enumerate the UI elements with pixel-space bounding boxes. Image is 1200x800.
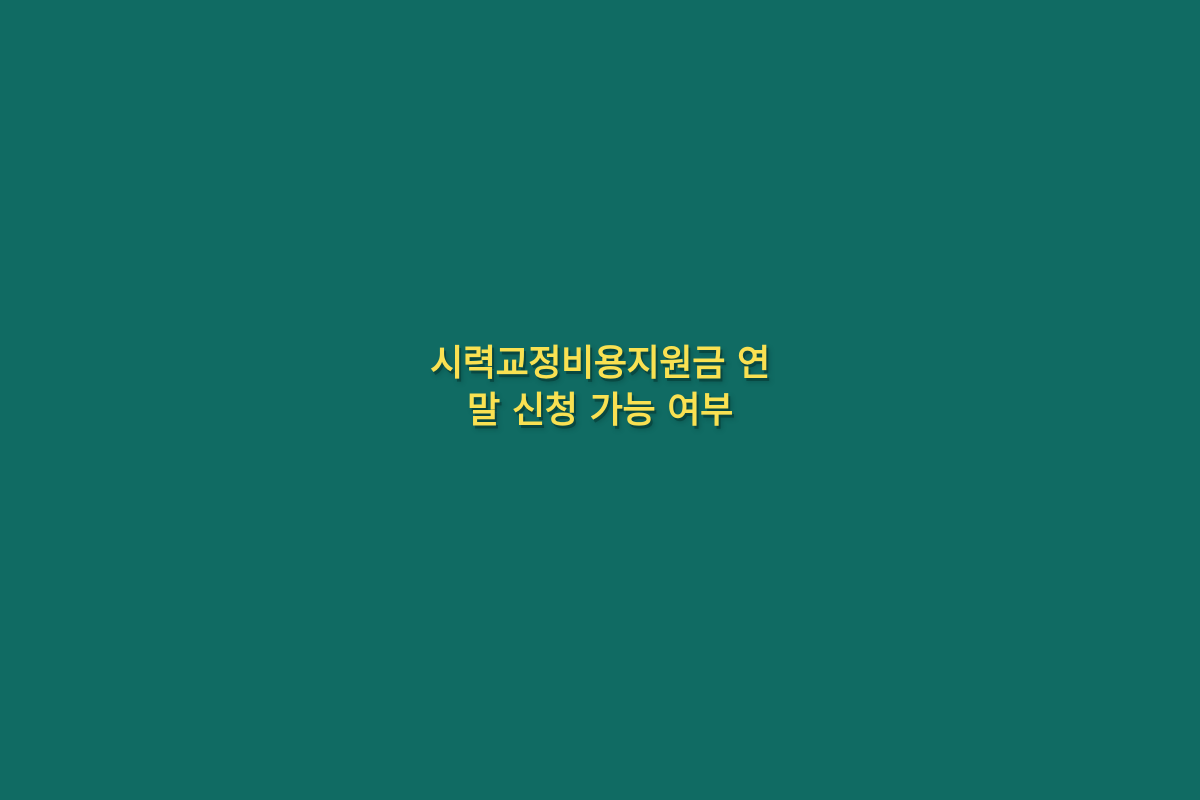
page-title-line-1: 시력교정비용지원금 연 [100, 341, 1100, 388]
page-title-line-2: 말 신청 가능 여부 [100, 388, 1100, 435]
title-banner: 시력교정비용지원금 연 말 신청 가능 여부 [0, 0, 1200, 800]
page-title: 시력교정비용지원금 연 말 신청 가능 여부 [100, 341, 1100, 435]
